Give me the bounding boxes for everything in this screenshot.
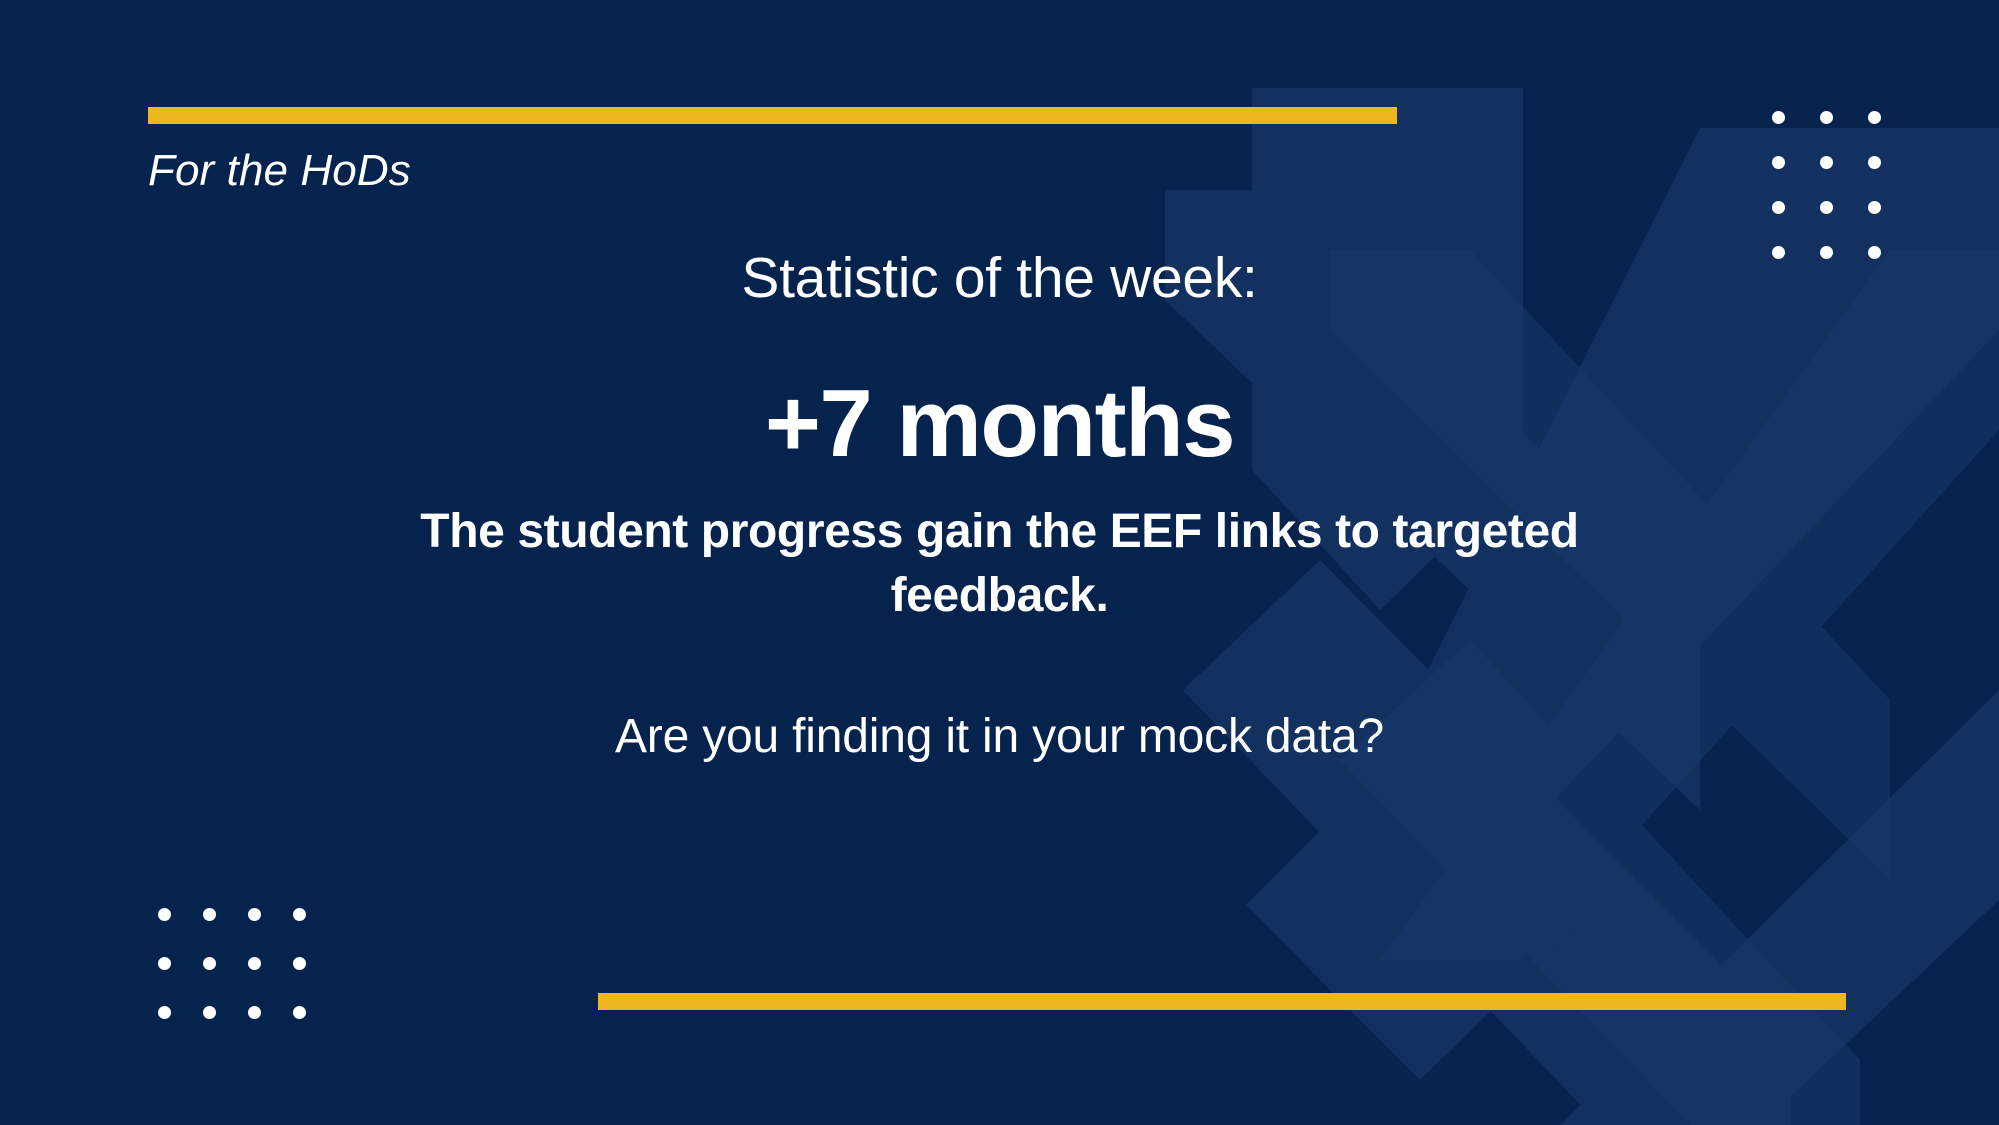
gold-rule-bottom [598, 993, 1846, 1010]
dot-icon [158, 908, 171, 921]
question-text: Are you finding it in your mock data? [0, 708, 1999, 766]
dot-icon [248, 908, 261, 921]
subhead-text: The student progress gain the EEF links … [395, 500, 1605, 628]
dot-cell [142, 890, 187, 939]
dot-icon [1772, 111, 1785, 124]
dot-grid-top-right [1754, 95, 1898, 275]
dot-icon [248, 1006, 261, 1019]
dot-icon [1772, 156, 1785, 169]
headline-statistic: +7 months [0, 374, 1999, 475]
dot-cell [187, 890, 232, 939]
dot-cell [187, 988, 232, 1037]
dot-icon [1868, 111, 1881, 124]
dot-icon [1868, 246, 1881, 259]
dot-icon [1820, 156, 1833, 169]
dot-cell [1754, 95, 1802, 140]
dot-icon [293, 1006, 306, 1019]
eyebrow-text: For the HoDs [148, 146, 411, 196]
dot-cell [1754, 140, 1802, 185]
dot-icon [158, 957, 171, 970]
dot-cell [277, 939, 322, 988]
dot-cell [1802, 95, 1850, 140]
dot-icon [1868, 201, 1881, 214]
dot-cell [1850, 230, 1898, 275]
dot-icon [1820, 111, 1833, 124]
dot-cell [142, 988, 187, 1037]
dot-icon [1820, 201, 1833, 214]
dot-icon [203, 908, 216, 921]
content-stack: Statistic of the week: +7 months The stu… [0, 247, 1999, 766]
dot-cell [232, 939, 277, 988]
dot-cell [232, 988, 277, 1037]
dot-cell [1850, 95, 1898, 140]
dot-icon [1868, 156, 1881, 169]
dot-icon [293, 957, 306, 970]
dot-cell [142, 939, 187, 988]
dot-icon [1772, 201, 1785, 214]
dot-grid-bottom-left [142, 890, 322, 1037]
gold-rule-top [148, 107, 1397, 124]
dot-cell [1754, 230, 1802, 275]
dot-cell [277, 890, 322, 939]
dot-cell [1802, 140, 1850, 185]
kicker-text: Statistic of the week: [0, 247, 1999, 310]
dot-icon [158, 1006, 171, 1019]
dot-cell [1802, 185, 1850, 230]
dot-icon [293, 908, 306, 921]
dot-icon [248, 957, 261, 970]
dot-cell [232, 890, 277, 939]
dot-icon [203, 1006, 216, 1019]
dot-cell [187, 939, 232, 988]
dot-cell [1754, 185, 1802, 230]
dot-icon [203, 957, 216, 970]
dot-icon [1820, 246, 1833, 259]
dot-cell [277, 988, 322, 1037]
dot-cell [1850, 140, 1898, 185]
dot-icon [1772, 246, 1785, 259]
slide-canvas: For the HoDs Statistic of the week: +7 m… [0, 0, 1999, 1125]
dot-cell [1802, 230, 1850, 275]
dot-cell [1850, 185, 1898, 230]
